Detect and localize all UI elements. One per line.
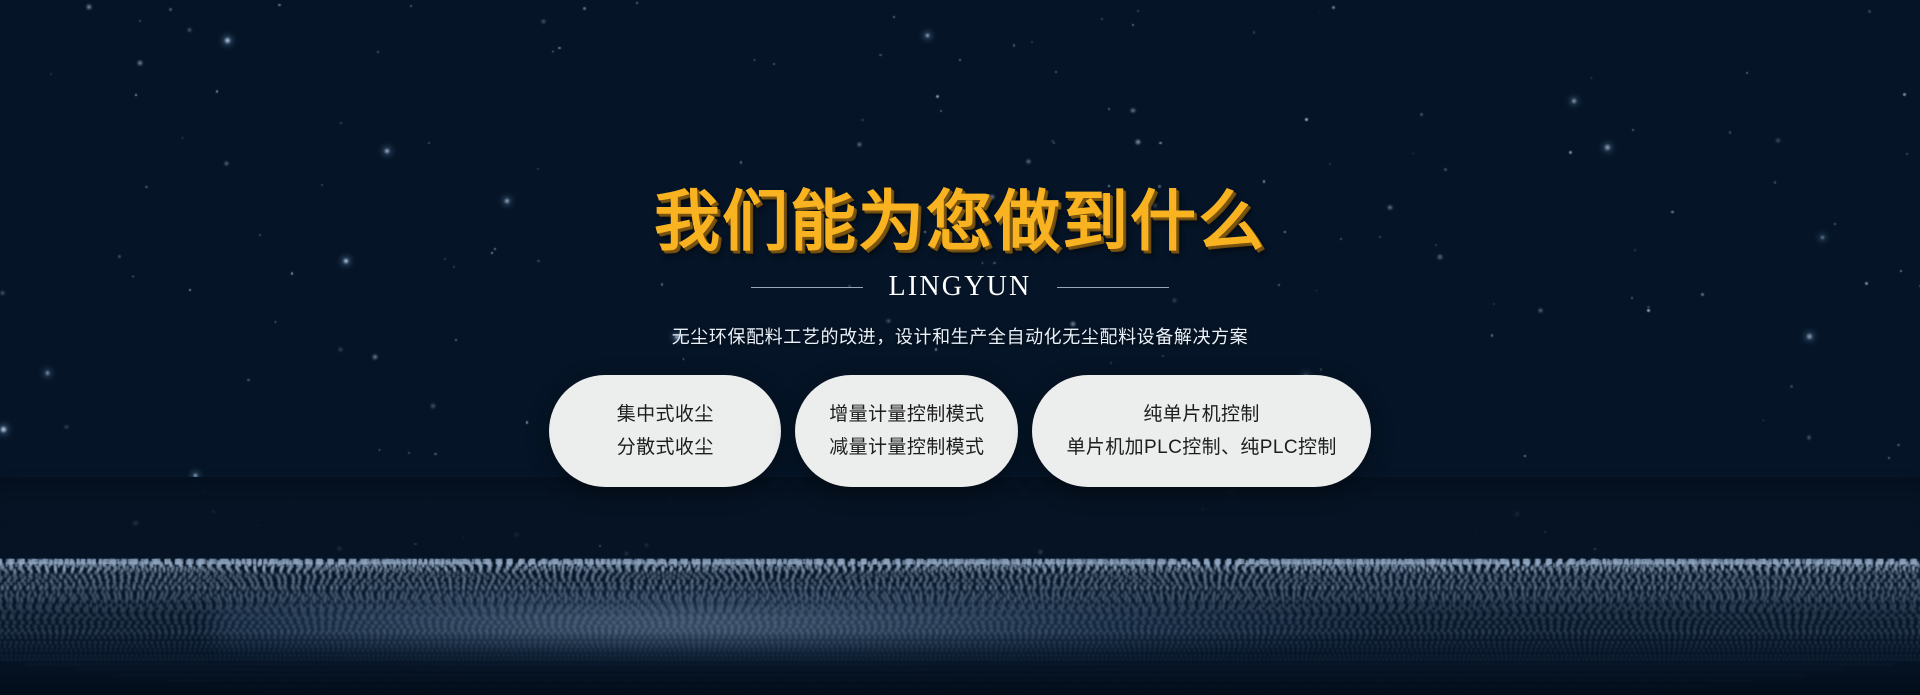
pill-metering-mode[interactable]: 增量计量控制模式 减量计量控制模式 bbox=[795, 375, 1018, 487]
feature-pill-group: 集中式收尘 分散式收尘 增量计量控制模式 减量计量控制模式 纯单片机控制 单片机… bbox=[0, 375, 1920, 487]
banner-description: 无尘环保配料工艺的改进，设计和生产全自动化无尘配料设备解决方案 bbox=[0, 323, 1920, 349]
pill-line: 增量计量控制模式 bbox=[829, 402, 984, 428]
brand-name: LINGYUN bbox=[889, 271, 1032, 303]
pill-line: 集中式收尘 bbox=[583, 402, 747, 428]
pill-line: 分散式收尘 bbox=[583, 435, 747, 461]
hero-banner: 我们能为您做到什么 LINGYUN 无尘环保配料工艺的改进，设计和生产全自动化无… bbox=[0, 0, 1920, 695]
brand-row: LINGYUN bbox=[0, 271, 1920, 303]
mesh-highlight bbox=[214, 589, 1375, 659]
banner-content: 我们能为您做到什么 LINGYUN 无尘环保配料工艺的改进，设计和生产全自动化无… bbox=[0, 0, 1920, 487]
pill-line: 减量计量控制模式 bbox=[829, 435, 984, 461]
banner-headline: 我们能为您做到什么 bbox=[0, 186, 1920, 257]
pill-line: 单片机加PLC控制、纯PLC控制 bbox=[1066, 435, 1336, 461]
brand-rule-left bbox=[751, 287, 863, 288]
pill-line: 纯单片机控制 bbox=[1066, 402, 1336, 428]
pill-control-system[interactable]: 纯单片机控制 单片机加PLC控制、纯PLC控制 bbox=[1032, 375, 1370, 487]
brand-rule-right bbox=[1057, 287, 1169, 288]
pill-dust-collection[interactable]: 集中式收尘 分散式收尘 bbox=[549, 375, 781, 487]
mesh-fade-bottom bbox=[0, 657, 1920, 695]
